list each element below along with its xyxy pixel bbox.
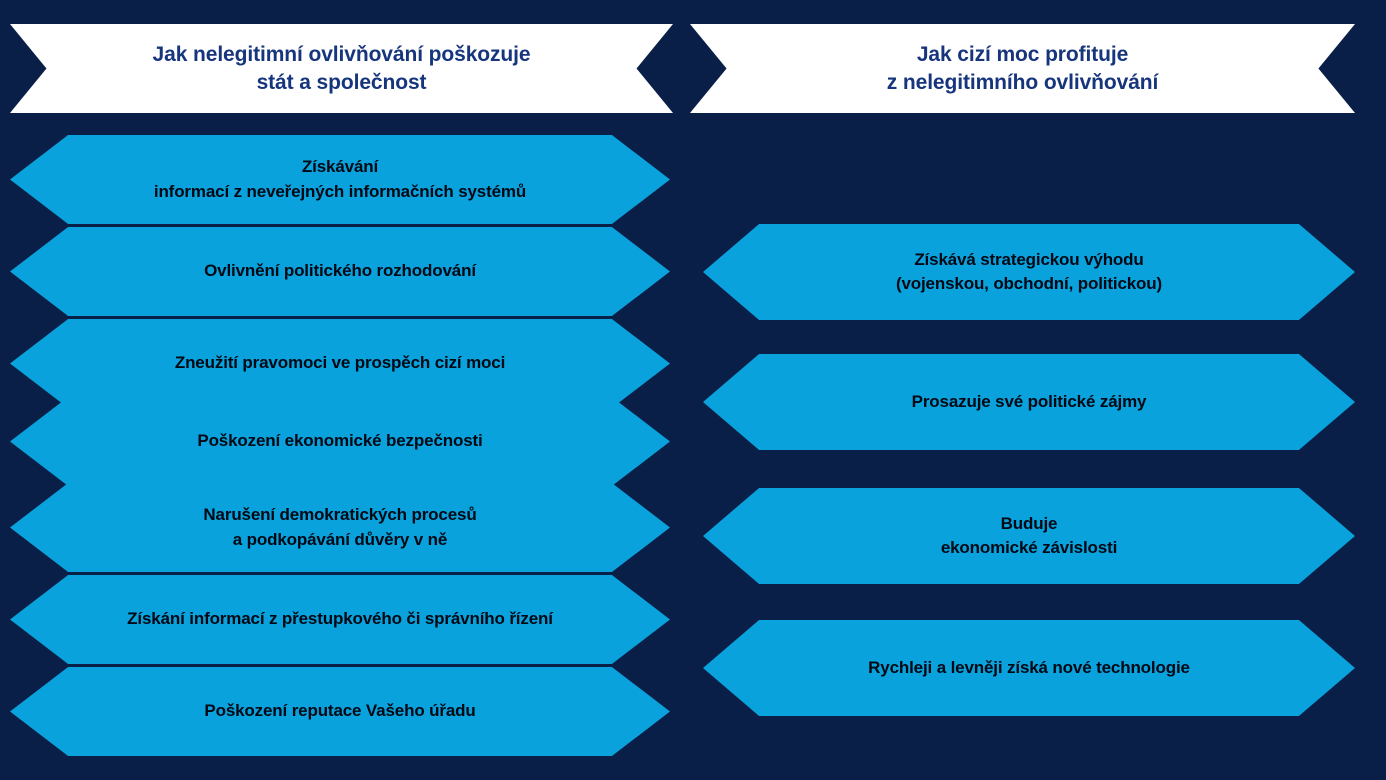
chevron-item-label: Buduje ekonomické závislosti: [861, 512, 1197, 560]
chevron-item-label: Rychleji a levněji získá nové technologi…: [788, 656, 1270, 680]
chevron-item: Získává strategickou výhodu (vojenskou, …: [703, 224, 1355, 320]
chevron-item-label: Poškození reputace Vašeho úřadu: [124, 699, 555, 723]
chevron-item-label: Zneužití pravomoci ve prospěch cizí moci: [95, 351, 585, 375]
chevron-item-label: Narušení demokratických procesů a podkop…: [123, 503, 556, 551]
column-header-ribbon-left: Jak nelegitimní ovlivňování poškozuje st…: [10, 24, 673, 113]
chevron-item: Narušení demokratických procesů a podkop…: [10, 483, 670, 572]
chevron-item: Získávání informací z neveřejných inform…: [10, 135, 670, 224]
column-header-title-right: Jak cizí moc profituje z nelegitimního o…: [857, 41, 1189, 96]
chevron-item: Prosazuje své politické zájmy: [703, 354, 1355, 450]
chevron-item-label: Získává strategickou výhodu (vojenskou, …: [816, 248, 1242, 296]
infographic-canvas: Jak nelegitimní ovlivňování poškozuje st…: [0, 0, 1386, 780]
chevron-item: Zneužití pravomoci ve prospěch cizí moci: [10, 319, 670, 408]
chevron-item-label: Ovlivnění politického rozhodování: [124, 259, 556, 283]
chevron-item: Poškození reputace Vašeho úřadu: [10, 667, 670, 756]
column-header-title-left: Jak nelegitimní ovlivňování poškozuje st…: [123, 41, 561, 96]
chevron-item-label: Poškození ekonomické bezpečnosti: [117, 429, 562, 453]
chevron-item-label: Získání informací z přestupkového či spr…: [47, 607, 633, 631]
chevron-item: Získání informací z přestupkového či spr…: [10, 575, 670, 664]
chevron-item: Buduje ekonomické závislosti: [703, 488, 1355, 584]
chevron-item-label: Prosazuje své politické zájmy: [832, 390, 1227, 414]
chevron-item: Rychleji a levněji získá nové technologi…: [703, 620, 1355, 716]
chevron-item: Poškození ekonomické bezpečnosti: [10, 397, 670, 486]
column-header-ribbon-right: Jak cizí moc profituje z nelegitimního o…: [690, 24, 1355, 113]
chevron-item-label: Získávání informací z neveřejných inform…: [74, 155, 606, 203]
chevron-item: Ovlivnění politického rozhodování: [10, 227, 670, 316]
